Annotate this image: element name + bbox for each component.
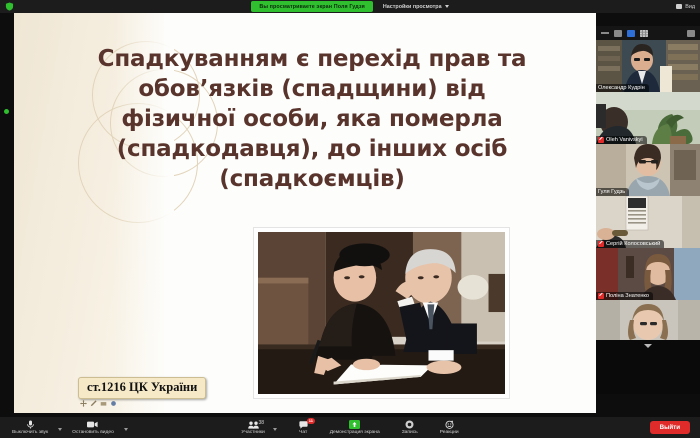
microphone-muted-icon [598,137,604,143]
microphone-muted-icon [598,241,604,247]
reactions-button[interactable]: Реакции [440,420,459,435]
participants-filmstrip: Олександр Кудрін Oleh Vanivskyi [596,26,700,394]
view-settings-button[interactable]: Настройки просмотра [383,4,449,10]
participant-name-badge: Олександр Кудрін [596,84,649,92]
participants-button[interactable]: 38 Участники [241,420,264,435]
minimize-icon[interactable] [601,32,609,34]
reactions-icon [445,420,454,429]
filmstrip-controls [596,26,700,40]
share-screen-button[interactable]: Демонстрация экрана [330,420,380,435]
participant-tile[interactable]: Сергій Колосовський [596,196,700,248]
participants-icon: 38 [248,420,259,429]
pen-icon[interactable] [90,400,97,407]
view-mode-icon [676,4,682,9]
share-status-banner: Вы просматриваете экран Поля Гудзя [251,1,372,12]
participant-name: Олександр Кудрін [598,85,645,91]
shared-screen-stage: Спадкуванням є перехід прав та обов’язкі… [0,13,700,417]
active-speaker-icon[interactable] [627,30,635,37]
participant-name-badge: Oleh Vanivskyi [596,136,647,144]
slide-caption: ст.1216 ЦК України [78,377,206,399]
view-mode-label: Вид [685,4,695,10]
slide-title-line: фізичної особи, яка померла [52,105,572,135]
meeting-toolbar: Выключить звук Остановить видео 38 Участ… [0,417,700,438]
record-button[interactable]: Запись [402,420,418,435]
chat-button[interactable]: 11 Чат [299,420,308,435]
presentation-slide: Спадкуванням є перехід прав та обов’язкі… [14,13,596,413]
participants-label: Участники [241,430,264,435]
annotation-tools[interactable] [80,400,117,407]
filmstrip-expand-button[interactable] [596,340,700,352]
chevron-down-icon [644,344,652,348]
fullscreen-icon[interactable] [687,30,695,37]
slide-title-line: (спадкоємців) [52,165,572,195]
participant-tile[interactable] [596,300,700,340]
leave-meeting-button[interactable]: Выйти [650,421,690,434]
participant-name-badge: Сергій Колосовський [596,240,664,248]
slide-title-line: Спадкуванням є перехід прав та [52,45,572,75]
participants-options-chevron-icon[interactable] [273,428,277,431]
participant-name: Сергій Колосовський [606,241,660,247]
chat-bubble-icon: 11 [299,420,308,429]
participant-name: Поліна Знатенко [606,293,649,299]
view-mode-button[interactable]: Вид [676,4,695,10]
slide-photo [254,228,509,398]
participant-tile[interactable]: Гуля Гудзь [596,144,700,196]
share-screen-icon [349,420,360,429]
chat-label: Чат [299,430,307,435]
participant-tile[interactable]: Олександр Кудрін [596,40,700,92]
slide-title-line: обов’язків (спадщини) від [52,75,572,105]
reactions-label: Реакции [440,430,459,435]
record-icon [405,420,414,429]
move-icon[interactable] [80,400,87,407]
participant-name: Гуля Гудзь [598,189,625,195]
recording-indicator-dot [4,109,9,114]
speaker-view-icon[interactable] [614,30,622,37]
participants-count: 38 [259,420,265,426]
participant-tile[interactable]: Oleh Vanivskyi [596,92,700,144]
share-screen-label: Демонстрация экрана [330,430,380,435]
participant-name-badge: Поліна Знатенко [596,292,653,300]
participant-tile[interactable]: Поліна Знатенко [596,248,700,300]
microphone-muted-icon [598,293,604,299]
slide-title: Спадкуванням є перехід прав та обов’язкі… [52,45,572,194]
chat-unread-badge: 11 [307,418,315,424]
stamp-icon[interactable] [110,400,117,407]
chevron-down-icon [445,5,449,8]
slide-title-line: (спадкодавця), до інших осіб [52,135,572,165]
view-settings-label: Настройки просмотра [383,4,442,10]
eraser-icon[interactable] [100,400,107,407]
gallery-view-icon[interactable] [640,30,648,37]
participant-name-badge: Гуля Гудзь [596,188,629,196]
participant-name: Oleh Vanivskyi [606,137,643,143]
screen-share-topbar: Вы просматриваете экран Поля Гудзя Настр… [0,0,700,13]
record-label: Запись [402,430,418,435]
